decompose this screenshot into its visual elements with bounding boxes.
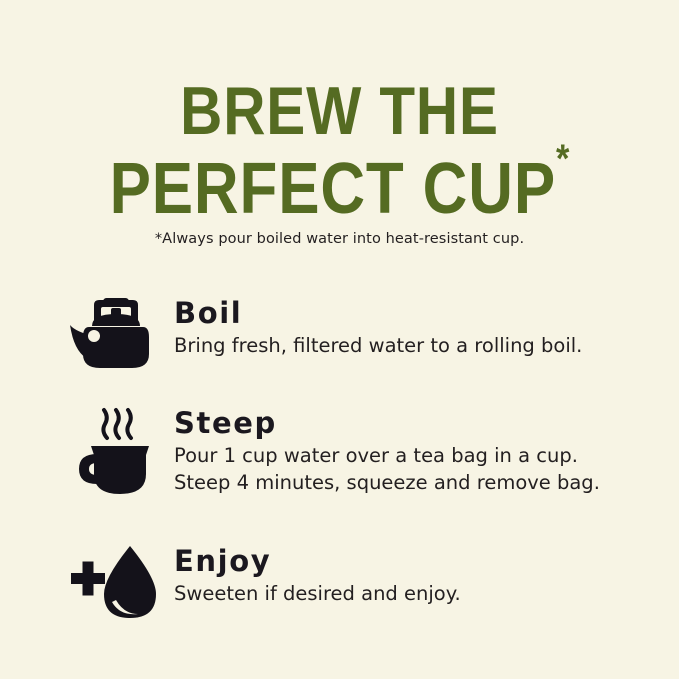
step-description-boil: Bring fresh, filtered water to a rolling… xyxy=(174,332,582,359)
brew-instructions-poster: BREW THE PERFECT CUP* *Always pour boile… xyxy=(0,0,679,679)
step-body-steep: Steep Pour 1 cup water over a tea bag in… xyxy=(174,398,600,496)
kettle-icon xyxy=(64,292,168,372)
steps-list: Boil Bring fresh, filtered water to a ro… xyxy=(0,292,679,644)
headline-line-1: BREW THE xyxy=(48,72,632,150)
plus-droplet-icon xyxy=(64,538,168,626)
plus-sign-icon xyxy=(71,562,105,596)
step-item-enjoy: Enjoy Sweeten if desired and enjoy. xyxy=(0,538,679,634)
step-title-enjoy: Enjoy xyxy=(174,544,461,578)
step-title-boil: Boil xyxy=(174,296,582,330)
headline-asterisk: * xyxy=(556,137,569,181)
step-item-steep: Steep Pour 1 cup water over a tea bag in… xyxy=(0,398,679,528)
headline-line-2: PERFECT CUP* xyxy=(48,150,632,228)
footnote-text: *Always pour boiled water into heat-resi… xyxy=(0,231,679,247)
step-body-enjoy: Enjoy Sweeten if desired and enjoy. xyxy=(174,538,461,607)
steaming-mug-icon xyxy=(64,398,168,500)
step-item-boil: Boil Bring fresh, filtered water to a ro… xyxy=(0,292,679,388)
step-description-steep: Pour 1 cup water over a tea bag in a cup… xyxy=(174,442,600,496)
step-body-boil: Boil Bring fresh, filtered water to a ro… xyxy=(174,292,582,359)
step-description-enjoy: Sweeten if desired and enjoy. xyxy=(174,580,461,607)
page-title: BREW THE PERFECT CUP* xyxy=(0,72,679,228)
step-title-steep: Steep xyxy=(174,406,600,440)
headline-line-2-text: PERFECT CUP xyxy=(110,149,556,229)
